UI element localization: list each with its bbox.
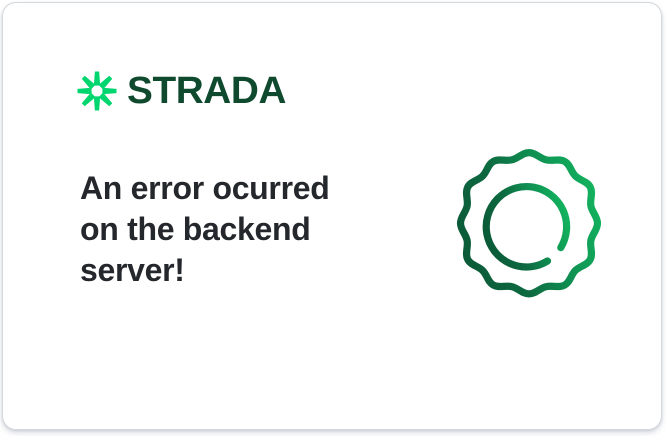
error-message-line: on the backend bbox=[80, 209, 380, 250]
error-message-line: An error ocurred bbox=[80, 168, 380, 209]
strada-asterisk-mark-icon bbox=[77, 71, 117, 111]
error-message-line: server! bbox=[80, 250, 380, 291]
error-screen: STRADA An error ocurred on the backend s… bbox=[0, 0, 666, 436]
error-card: STRADA An error ocurred on the backend s… bbox=[2, 2, 662, 430]
brand-wordmark: STRADA bbox=[127, 72, 286, 110]
brand-lockup: STRADA bbox=[77, 71, 283, 111]
gear-icon bbox=[447, 142, 611, 308]
error-message: An error ocurred on the backend server! bbox=[80, 168, 380, 291]
